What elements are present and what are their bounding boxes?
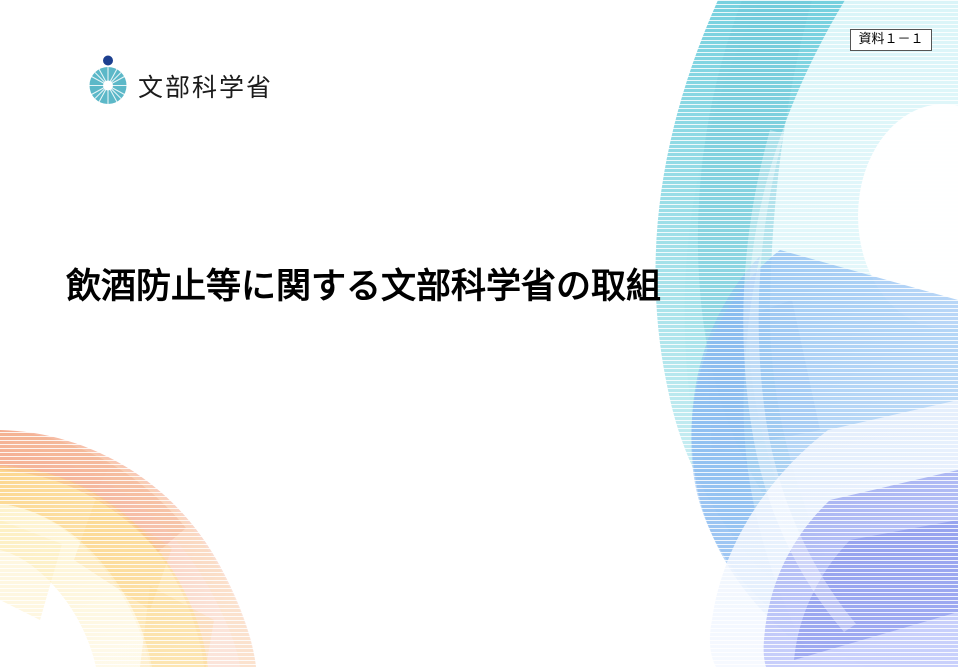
slide-canvas: 文部科学省 飲酒防止等に関する文部科学省の取組 資料１－１ bbox=[0, 0, 958, 667]
page-title: 飲酒防止等に関する文部科学省の取組 bbox=[66, 266, 661, 308]
mext-logo-text: 文部科学省 bbox=[138, 75, 273, 106]
document-number-badge: 資料１－１ bbox=[850, 29, 932, 51]
mext-logo: 文部科学省 bbox=[88, 52, 273, 106]
mext-emblem-icon bbox=[88, 52, 128, 106]
